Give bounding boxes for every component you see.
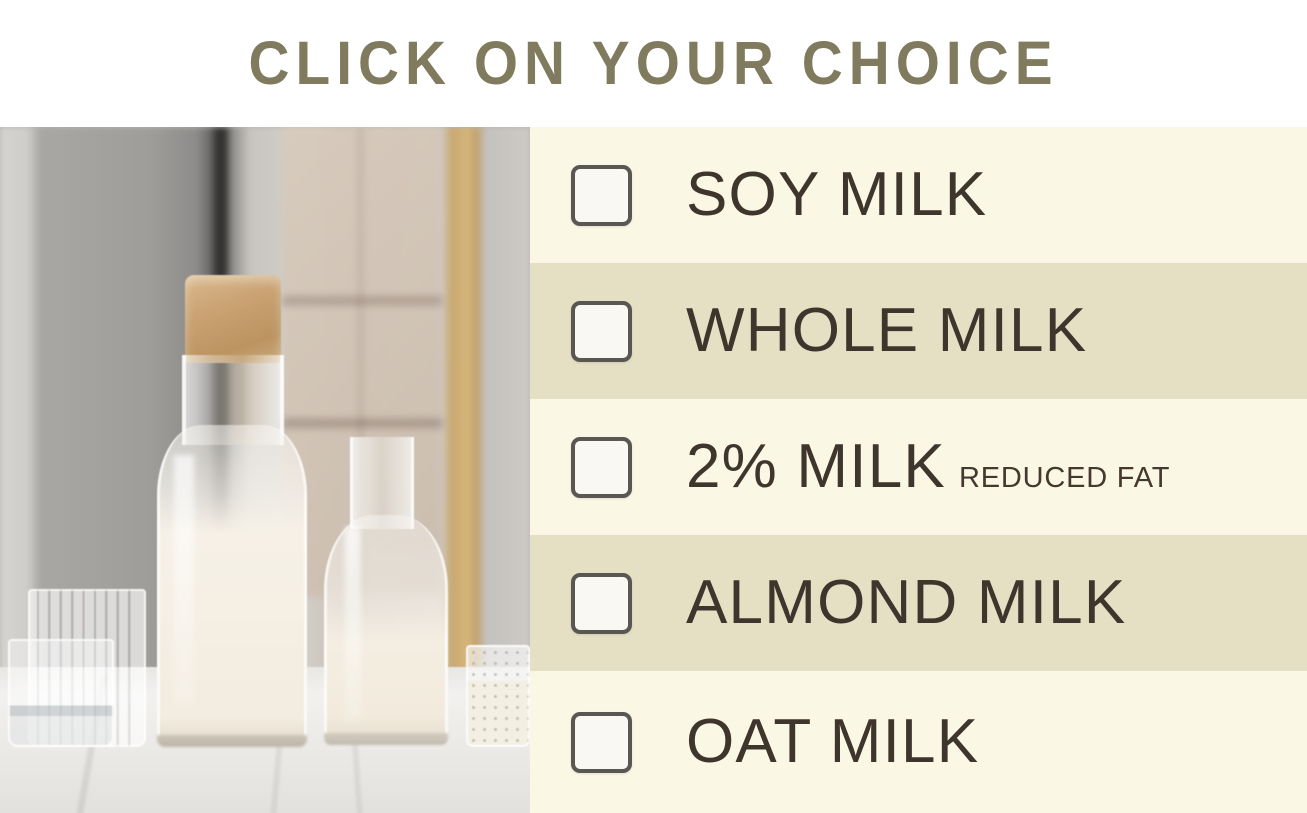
milk-photo (0, 127, 530, 813)
option-row-2-percent-milk[interactable]: 2% MILK REDUCED FAT (530, 399, 1307, 535)
small-milk-carafe (320, 437, 450, 743)
choice-list: SOY MILK WHOLE MILK 2% MILK REDUCED FAT (530, 127, 1307, 813)
cork-stopper (185, 275, 281, 363)
option-row-soy-milk[interactable]: SOY MILK (530, 127, 1307, 263)
small-carafe-body (324, 515, 448, 743)
checkbox-soy-milk[interactable] (571, 165, 632, 226)
content-area: SOY MILK WHOLE MILK 2% MILK REDUCED FAT (0, 127, 1307, 813)
option-label-whole-milk: WHOLE MILK (686, 300, 1087, 362)
option-text-almond-milk: ALMOND MILK (686, 572, 1126, 634)
checkbox-oat-milk[interactable] (571, 712, 632, 773)
option-row-almond-milk[interactable]: ALMOND MILK (530, 535, 1307, 671)
milk-carafe (152, 275, 310, 743)
checkbox-2-percent-milk[interactable] (571, 437, 632, 498)
option-row-whole-milk[interactable]: WHOLE MILK (530, 263, 1307, 399)
carafe-body (157, 425, 307, 743)
page-header: CLICK ON YOUR CHOICE (0, 0, 1307, 127)
carafe-base (157, 735, 307, 747)
option-text-soy-milk: SOY MILK (686, 164, 987, 226)
option-label-2-percent-milk: 2% MILK REDUCED FAT (686, 436, 1170, 498)
dotted-tumbler (466, 645, 530, 747)
option-label-soy-milk: SOY MILK (686, 164, 987, 226)
small-carafe-base (324, 733, 448, 745)
option-label-oat-milk: OAT MILK (686, 711, 979, 773)
checkbox-almond-milk[interactable] (571, 573, 632, 634)
option-text-2-percent-milk: 2% MILK (686, 436, 946, 498)
page-title: CLICK ON YOUR CHOICE (248, 33, 1058, 94)
option-sublabel-2-percent-milk: REDUCED FAT (959, 464, 1170, 493)
choice-screen: CLICK ON YOUR CHOICE (0, 0, 1307, 813)
option-label-almond-milk: ALMOND MILK (686, 572, 1126, 634)
checkbox-whole-milk[interactable] (571, 301, 632, 362)
water-glass (8, 639, 114, 747)
option-row-oat-milk[interactable]: OAT MILK (530, 671, 1307, 813)
option-text-whole-milk: WHOLE MILK (686, 300, 1087, 362)
option-text-oat-milk: OAT MILK (686, 711, 979, 773)
